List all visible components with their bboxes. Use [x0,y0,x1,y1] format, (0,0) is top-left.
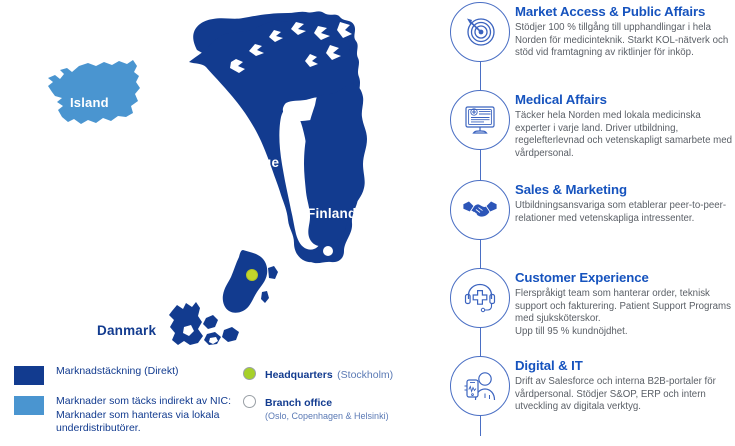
legend-marker-branch-office-icon [243,395,256,408]
headset-medical-icon [450,268,510,328]
map-region-iceland [48,60,140,124]
handshake-icon [450,180,510,240]
legend-branch-office-text: Branch office (Oslo, Copenhagen & Helsin… [265,393,389,422]
timeline-body-medical-affairs: Medical Affairs Täcker hela Norden med l… [515,92,733,160]
map-marker-branch-office-helsinki[interactable] [323,246,333,256]
legend-item-direct-coverage: Marknadstäckning (Direkt) [14,365,242,385]
legend-item-headquarters: Headquarters (Stockholm) [243,365,439,383]
timeline-body-market-access: Market Access & Public Affairs Stödjer 1… [515,4,733,60]
timeline-title-digital-it: Digital & IT [515,358,733,374]
timeline-description-digital-it: Drift av Salesforce och interna B2B-port… [515,376,733,414]
monitor-medical-icon [450,90,510,150]
timeline-body-digital-it: Digital & IT Drift av Salesforce och int… [515,358,733,414]
legend-item-indirect-coverage: Marknader som täcks indirekt av NIC: Mar… [14,395,242,436]
legend-headquarters-text: Headquarters (Stockholm) [265,365,393,383]
timeline-body-customer-experience: Customer Experience Flerspråkigt team so… [515,270,733,338]
timeline-description-sales-marketing: Utbildningsansvariga som etablerar peer-… [515,200,733,225]
nordics-map-graphic [0,0,440,362]
timeline-description-medical-affairs: Täcker hela Norden med lokala medicinska… [515,110,733,160]
legend-swatch-direct [14,366,44,385]
legend-detail-headquarters: (Stockholm) [337,369,393,381]
timeline-title-market-access: Market Access & Public Affairs [515,4,733,20]
legend-label-direct: Marknadstäckning (Direkt) [56,365,179,379]
timeline-title-customer-experience: Customer Experience [515,270,733,286]
map-legend: Marknadstäckning (Direkt) Marknader som … [0,362,440,441]
legend-label-indirect: Marknader som täcks indirekt av NIC: Mar… [56,395,242,436]
map-marker-branch-office-oslo[interactable] [183,256,193,266]
nordics-map-panel: Island Sverige Finland Norge Danmark Mar… [0,0,440,441]
legend-item-branch-office: Branch office (Oslo, Copenhagen & Helsin… [243,393,439,422]
person-mobile-icon [450,356,510,416]
timeline-description-market-access: Stödjer 100 % tillgång till upphandlinga… [515,22,733,60]
legend-label-branch-office: Branch office [265,397,332,409]
map-marker-headquarters-stockholm[interactable] [246,269,258,281]
legend-label-headquarters: Headquarters [265,369,333,381]
services-timeline: Market Access & Public Affairs Stödjer 1… [446,0,735,441]
timeline-title-sales-marketing: Sales & Marketing [515,182,733,198]
target-icon [450,2,510,62]
timeline-title-medical-affairs: Medical Affairs [515,92,733,108]
timeline-body-sales-marketing: Sales & Marketing Utbildningsansvariga s… [515,182,733,225]
legend-column-coverage: Marknadstäckning (Direkt) Marknader som … [14,365,242,446]
legend-marker-headquarters-icon [243,367,256,380]
legend-swatch-indirect [14,396,44,415]
legend-column-offices: Headquarters (Stockholm) Branch office (… [243,365,439,432]
timeline-description-customer-experience: Flerspråkigt team som hanterar order, te… [515,288,733,338]
legend-detail-branch-office: (Oslo, Copenhagen & Helsinki) [265,411,389,422]
